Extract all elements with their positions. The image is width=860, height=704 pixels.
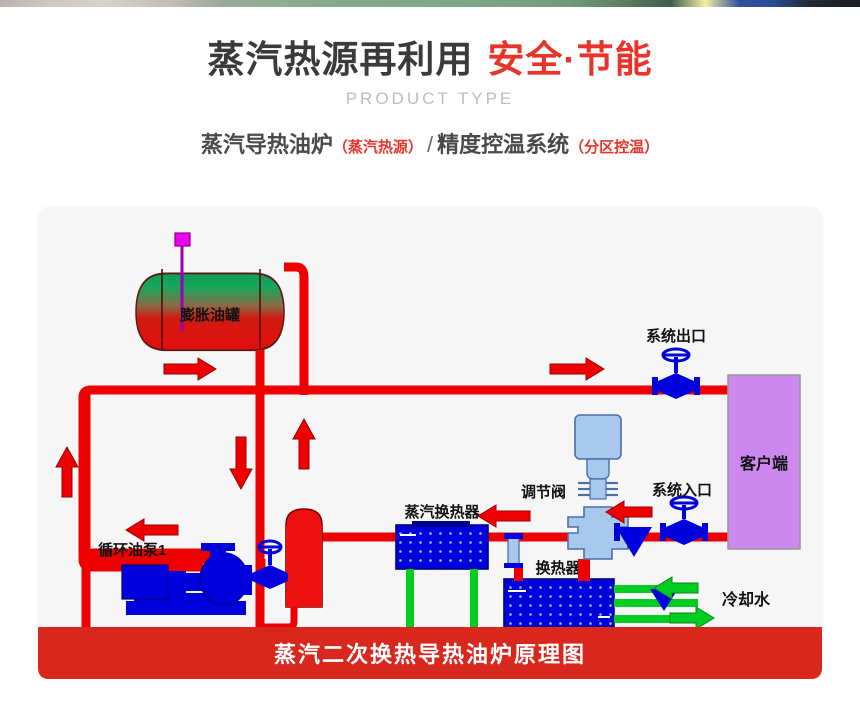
pump1-label: 循环油泵1 (98, 541, 166, 559)
header: 蒸汽热源再利用安全·节能 PRODUCT TYPE 蒸汽导热油炉（蒸汽热源）/精… (0, 7, 860, 159)
steam-heat-exchanger: 蒸汽换热器 (396, 503, 488, 569)
expansion-tank-label: 膨胀油罐 (180, 306, 240, 324)
page-root: 蒸汽热源再利用安全·节能 PRODUCT TYPE 蒸汽导热油炉（蒸汽热源）/精… (0, 7, 860, 704)
oil-separator-vessel (286, 509, 322, 607)
client-label: 客户端 (740, 454, 788, 473)
diagram-caption-text: 蒸汽二次换热导热油炉原理图 (274, 637, 586, 669)
page-title-accent: 安全·节能 (487, 39, 652, 80)
steam-heat-exchanger-label: 蒸汽换热器 (404, 503, 480, 521)
page-subtitle-en: PRODUCT TYPE (0, 89, 860, 109)
product-part-2: 精度控温系统 (437, 132, 569, 157)
regulating-valve-top-label: 调节阀 (521, 483, 566, 501)
heat-exchanger-label: 换热器 (535, 559, 581, 577)
product-separator: / (427, 132, 433, 157)
client-box: 客户端 (728, 375, 800, 549)
diagram-panel: 膨胀油罐 (38, 207, 822, 641)
product-note-2: （分区控温） (569, 139, 659, 156)
diagram-caption: 蒸汽二次换热导热油炉原理图 (38, 627, 822, 679)
top-image-sliver (0, 0, 860, 7)
system-inlet-label: 系统入口 (652, 481, 712, 499)
product-type-line: 蒸汽导热油炉（蒸汽热源）/精度控温系统（分区控温） (0, 127, 860, 159)
system-outlet-label: 系统出口 (646, 327, 706, 345)
cooling-water-label: 冷却水 (722, 590, 771, 609)
product-part-1: 蒸汽导热油炉 (201, 132, 333, 157)
page-title-main: 蒸汽热源再利用 (207, 39, 473, 80)
product-note-1: （蒸汽热源） (333, 139, 423, 156)
page-title: 蒸汽热源再利用安全·节能 (0, 41, 860, 80)
